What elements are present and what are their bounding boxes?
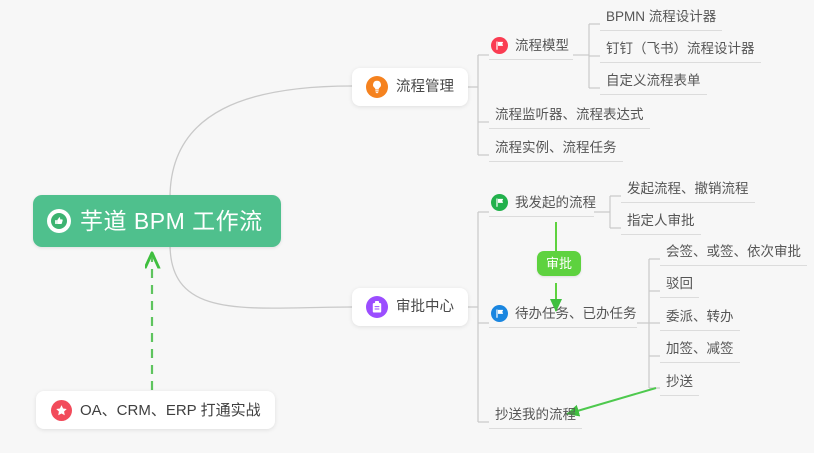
link-root-to-approval-center	[170, 244, 352, 308]
root-node[interactable]: 芋道 BPM 工作流	[33, 195, 281, 247]
flag-icon	[491, 37, 508, 54]
leaf-start-cancel-process[interactable]: 发起流程、撤销流程	[621, 180, 755, 203]
node-todo-done-tasks[interactable]: 待办任务、已办任务	[489, 305, 637, 328]
leaf-dingtalk-feishu-designer[interactable]: 钉钉（飞书）流程设计器	[600, 40, 761, 63]
node-oa-crm-erp-label: OA、CRM、ERP 打通实战	[80, 403, 261, 418]
leaf-delegate-transfer[interactable]: 委派、转办	[660, 308, 740, 331]
node-process-management[interactable]: 流程管理	[352, 68, 468, 106]
leaf-carbon-copy[interactable]: 抄送	[660, 373, 699, 396]
leaf-process-listener-expression[interactable]: 流程监听器、流程表达式	[489, 106, 650, 129]
leaf-countersign-orsign-sequential[interactable]: 会签、或签、依次审批	[660, 243, 807, 266]
leaf-add-remove-sign[interactable]: 加签、减签	[660, 340, 740, 363]
node-my-started-process[interactable]: 我发起的流程	[489, 194, 594, 217]
leaf-reject[interactable]: 驳回	[660, 275, 699, 298]
flag-icon	[491, 194, 508, 211]
leaf-bpmn-designer[interactable]: BPMN 流程设计器	[600, 8, 722, 31]
node-my-started-process-label: 我发起的流程	[515, 194, 596, 211]
clipboard-icon	[366, 296, 388, 318]
leaf-process-instance-task[interactable]: 流程实例、流程任务	[489, 139, 623, 162]
node-process-model[interactable]: 流程模型	[489, 37, 573, 60]
leaf-designated-approver[interactable]: 指定人审批	[621, 212, 701, 235]
link-root-to-process-management	[170, 86, 352, 198]
node-approval-center[interactable]: 审批中心	[352, 288, 468, 326]
approval-flow-badge: 审批	[537, 251, 581, 276]
node-approval-center-label: 审批中心	[396, 300, 454, 315]
node-oa-crm-erp[interactable]: OA、CRM、ERP 打通实战	[36, 391, 275, 429]
root-label: 芋道 BPM 工作流	[80, 210, 263, 233]
leaf-custom-process-form[interactable]: 自定义流程表单	[600, 72, 707, 95]
node-todo-done-tasks-label: 待办任务、已办任务	[515, 305, 637, 322]
star-icon	[50, 399, 72, 421]
mindmap-canvas: 芋道 BPM 工作流 流程管理 流程模型 BPMN 流程设计器 钉钉（飞书）流程…	[0, 0, 814, 453]
node-process-model-label: 流程模型	[515, 37, 569, 54]
node-process-management-label: 流程管理	[396, 80, 454, 95]
thumbs-up-icon	[47, 209, 71, 233]
lightbulb-icon	[366, 76, 388, 98]
leaf-cc-my-process[interactable]: 抄送我的流程	[489, 406, 582, 429]
flag-icon	[491, 305, 508, 322]
